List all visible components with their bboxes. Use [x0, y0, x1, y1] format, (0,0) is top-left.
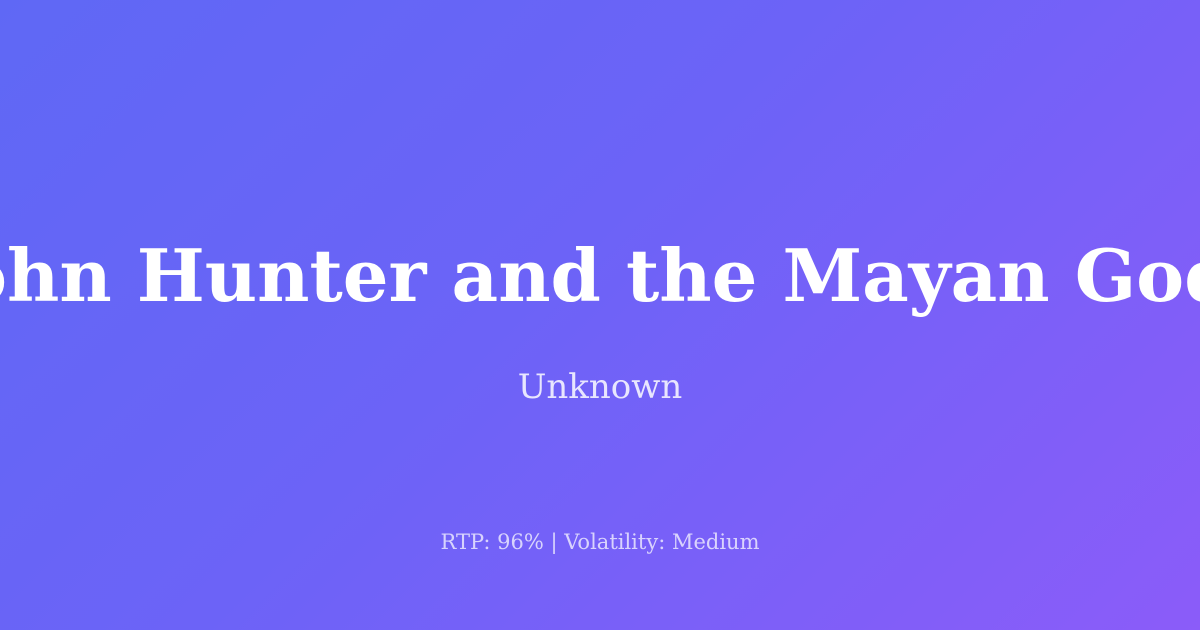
game-meta: RTP: 96% | Volatility: Medium [0, 527, 1200, 557]
game-title: John Hunter and the Mayan Gods [0, 240, 1200, 312]
game-share-card: John Hunter and the Mayan Gods Unknown R… [0, 0, 1200, 630]
game-provider: Unknown [0, 363, 1200, 411]
